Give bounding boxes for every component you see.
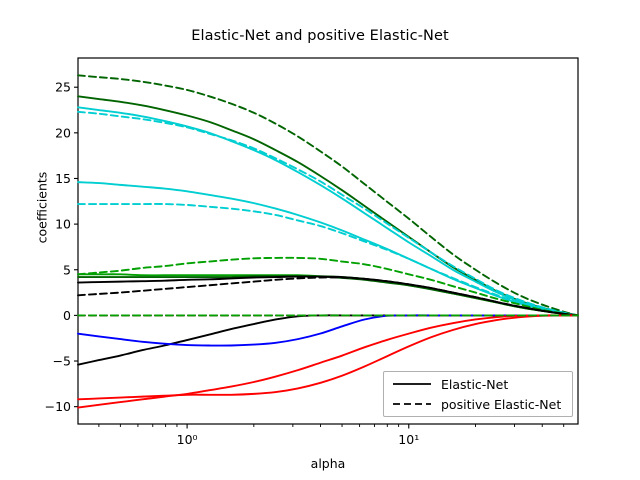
- svg-text:10⁰: 10⁰: [177, 432, 198, 447]
- legend-line-dashed-icon: [392, 398, 432, 410]
- curve-coef-2-elastic-net: [78, 107, 578, 315]
- data-curves: [78, 75, 578, 407]
- axes-frame: [78, 58, 578, 424]
- svg-text:20: 20: [55, 125, 71, 140]
- svg-text:10: 10: [55, 217, 71, 232]
- curve-coef-2-positive: [78, 112, 578, 316]
- matplotlib-figure: Elastic-Net and positive Elastic-Net −10…: [0, 0, 640, 480]
- legend-entry-elastic-net: Elastic-Net: [392, 374, 508, 394]
- curve-coef-7-elastic-net: [78, 315, 578, 364]
- svg-text:−10: −10: [45, 399, 71, 414]
- legend-label-elastic-net: Elastic-Net: [441, 377, 508, 392]
- legend[interactable]: Elastic-Net positive Elastic-Net: [383, 371, 573, 417]
- x-axis-label: alpha: [78, 456, 578, 471]
- svg-text:25: 25: [55, 80, 71, 95]
- svg-text:10¹: 10¹: [398, 432, 419, 447]
- curve-coef-1-positive: [78, 75, 578, 315]
- legend-entry-positive-elastic-net: positive Elastic-Net: [392, 394, 561, 414]
- svg-text:15: 15: [55, 171, 71, 186]
- curve-coef-1-elastic-net: [78, 96, 578, 315]
- svg-text:−5: −5: [53, 354, 71, 369]
- y-axis-label: coefficients: [35, 148, 50, 268]
- svg-text:5: 5: [63, 262, 71, 277]
- legend-label-positive-elastic-net: positive Elastic-Net: [441, 397, 561, 412]
- svg-text:0: 0: [63, 308, 71, 323]
- y-axis-ticks: −10−50510152025: [45, 80, 78, 414]
- x-axis-ticks: 10⁰10¹: [99, 424, 564, 447]
- legend-line-solid-icon: [392, 378, 432, 390]
- axes-spine: [78, 58, 578, 424]
